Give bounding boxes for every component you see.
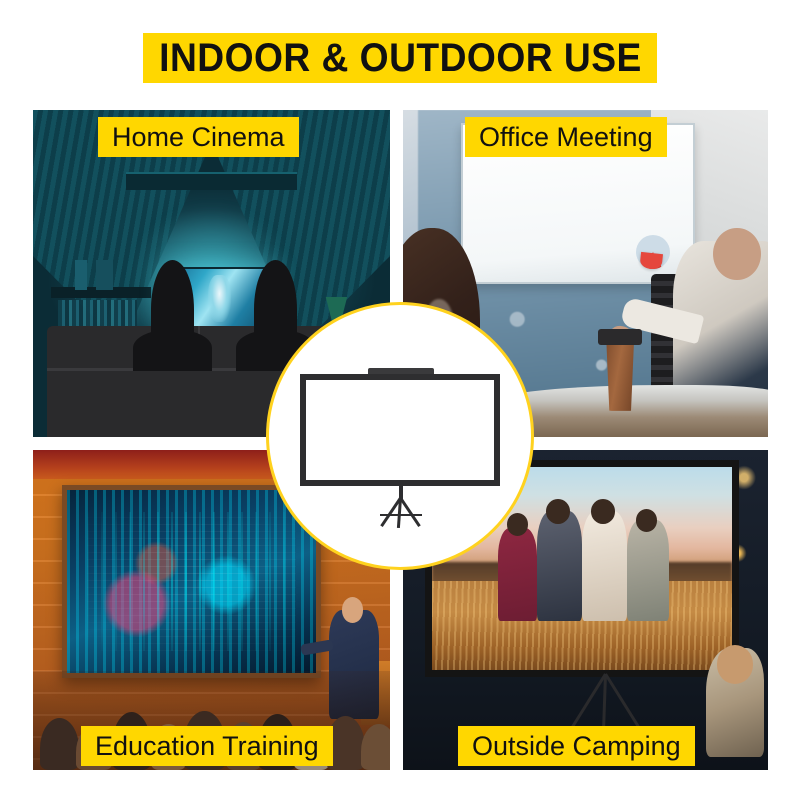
friend-figure (582, 511, 627, 621)
friend-figure (537, 511, 582, 621)
friend-head (591, 499, 615, 523)
ceiling-beam (126, 172, 297, 190)
tripod-leg (397, 498, 402, 528)
use-case-label-outside-camping: Outside Camping (458, 726, 695, 766)
infographic-page: INDOOR & OUTDOOR USE (0, 0, 800, 800)
presenter-head (713, 228, 760, 280)
tripod-leg (399, 497, 420, 527)
pie-chart-graphic (636, 235, 670, 269)
friend-head (507, 513, 528, 535)
label-text: Education Training (95, 733, 319, 760)
shelf-decor (58, 260, 144, 289)
tripod-brace (380, 514, 422, 516)
product-illustration-tripod-screen (300, 364, 500, 514)
book-row (58, 300, 137, 326)
friend-figure (498, 528, 537, 622)
screen-surface (300, 374, 500, 486)
use-case-label-home-cinema: Home Cinema (98, 117, 299, 157)
friend-head (636, 509, 657, 531)
label-text: Home Cinema (112, 124, 285, 151)
product-badge-circle (266, 302, 534, 570)
page-title: INDOOR & OUTDOOR USE (159, 38, 642, 78)
use-case-label-education-training: Education Training (81, 726, 333, 766)
label-text: Outside Camping (472, 733, 681, 760)
header-banner: INDOOR & OUTDOOR USE (143, 33, 657, 83)
friend-head (546, 499, 570, 523)
audience-head (361, 724, 390, 770)
audience-head (40, 718, 79, 770)
spectator-head (717, 645, 754, 683)
presenter-head (342, 597, 363, 623)
coffee-cup-lid (598, 329, 642, 345)
friend-figure (627, 520, 669, 622)
viewer-silhouette (151, 260, 194, 345)
presentation-screen (62, 485, 322, 677)
use-case-label-office-meeting: Office Meeting (465, 117, 667, 157)
label-text: Office Meeting (479, 124, 653, 151)
